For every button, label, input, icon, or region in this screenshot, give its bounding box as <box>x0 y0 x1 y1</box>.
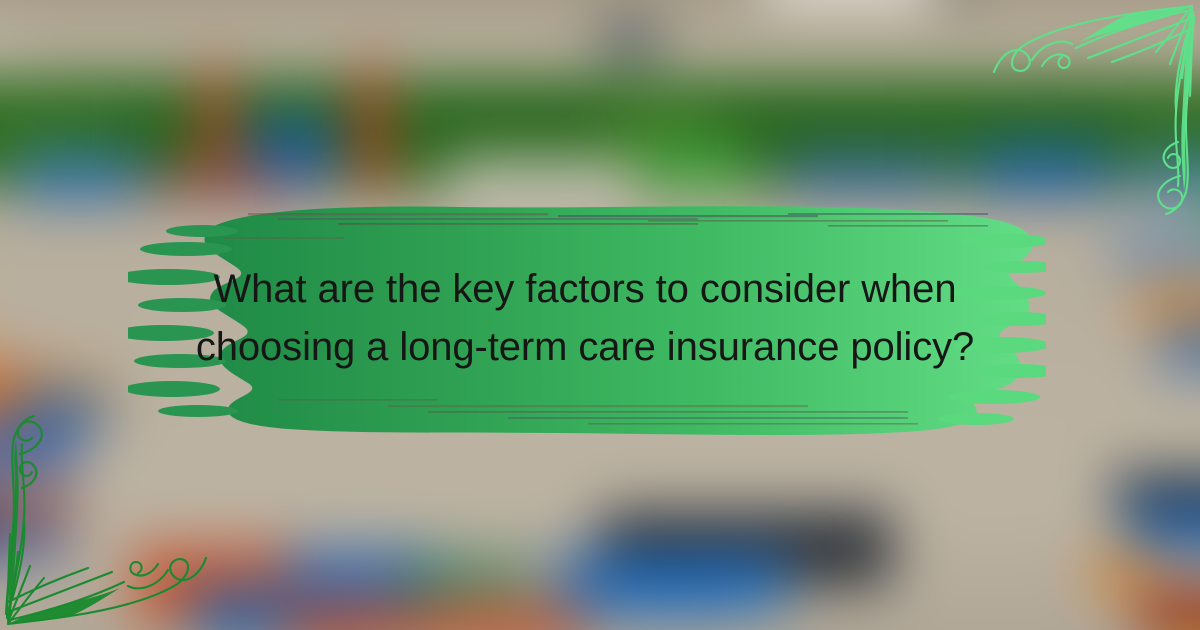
brush-stroke-banner <box>128 193 1046 440</box>
question-card: What are the key factors to consider whe… <box>0 0 1200 630</box>
